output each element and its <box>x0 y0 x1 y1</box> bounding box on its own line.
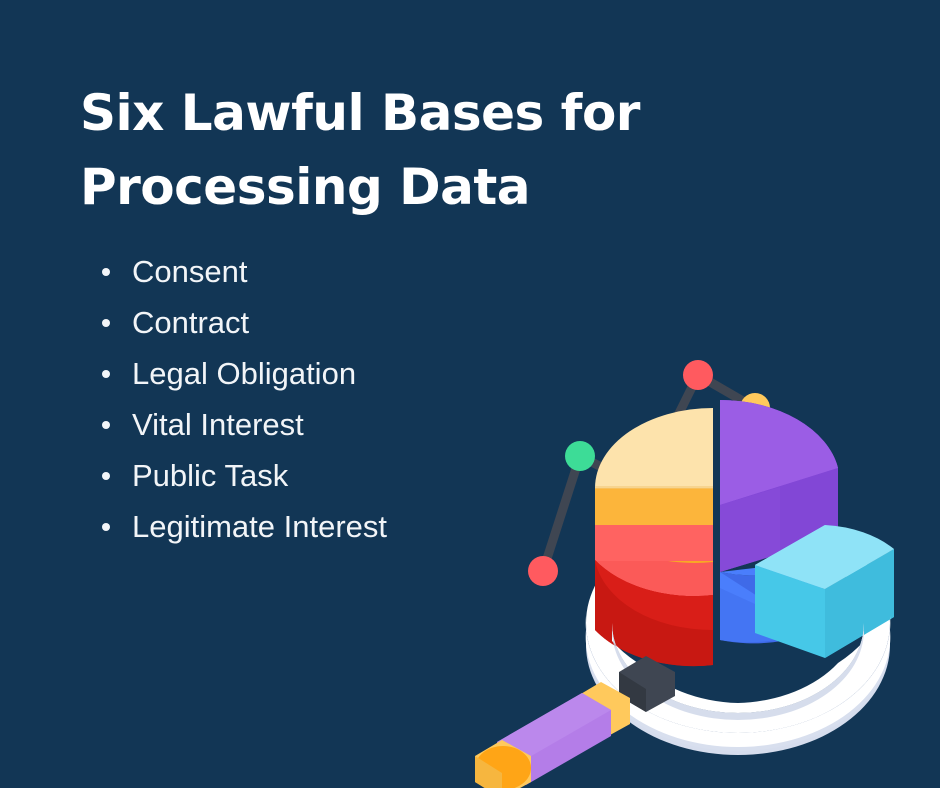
list-item-label: Legal Obligation <box>132 356 356 391</box>
magnifying-glass-pie-chart-illustration <box>470 340 940 788</box>
pie-chart-3d <box>595 400 894 668</box>
slide-canvas: Six Lawful Bases for Processing Data Con… <box>0 0 940 788</box>
list-item: Consent <box>96 246 566 297</box>
pie-half-gap <box>713 400 720 668</box>
bullet-dot-icon <box>102 523 110 531</box>
page-title: Six Lawful Bases for Processing Data <box>80 76 720 224</box>
slice-orange-top <box>595 488 713 525</box>
title-line-2: Processing Data <box>80 150 720 224</box>
line-chart-point-1 <box>528 556 558 586</box>
bullet-dot-icon <box>102 370 110 378</box>
slice-salmon-top <box>595 525 713 561</box>
list-item-label: Public Task <box>132 458 288 493</box>
line-chart-point-4 <box>683 360 713 390</box>
list-item-label: Vital Interest <box>132 407 304 442</box>
bullet-dot-icon <box>102 319 110 327</box>
slice-cream-top <box>595 408 713 488</box>
line-chart-point-2 <box>565 441 595 471</box>
bullet-dot-icon <box>102 472 110 480</box>
bullet-dot-icon <box>102 421 110 429</box>
list-item-label: Legitimate Interest <box>132 509 387 544</box>
bullet-dot-icon <box>102 268 110 276</box>
title-line-1: Six Lawful Bases for <box>80 76 720 150</box>
list-item-label: Contract <box>132 305 249 340</box>
list-item-label: Consent <box>132 254 247 289</box>
